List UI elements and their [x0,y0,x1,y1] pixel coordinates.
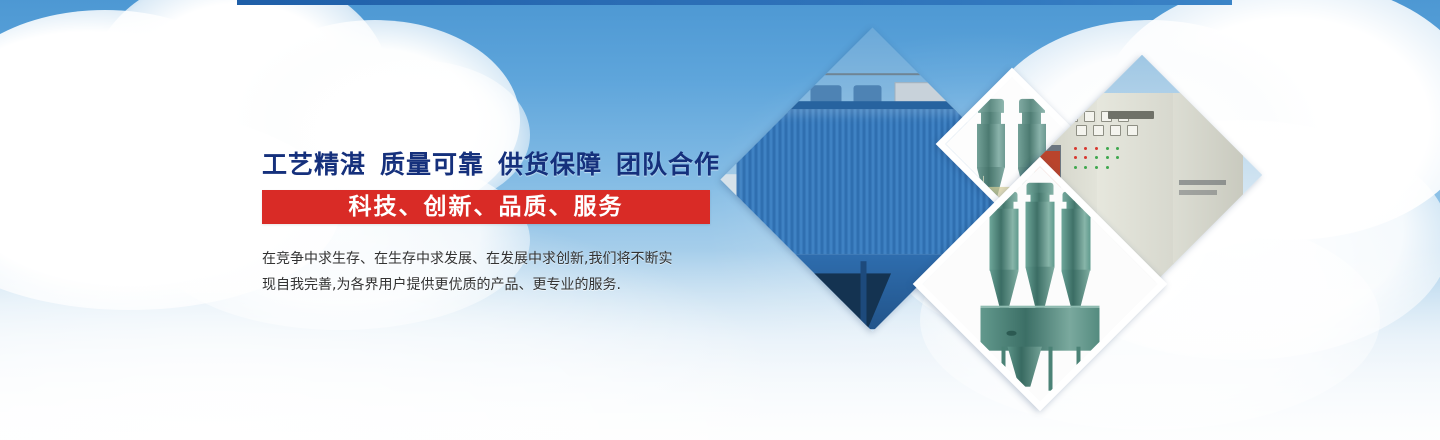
baghouse-railing [761,73,941,75]
banner-copy: 工艺精湛质量可靠供货保障团队合作 科技、创新、品质、服务 在竞争中求生存、在生存… [258,148,738,298]
hero-banner: 工艺精湛质量可靠供货保障团队合作 科技、创新、品质、服务 在竞争中求生存、在生存… [0,0,1440,440]
cyclone-tube-3 [1060,191,1091,309]
description-line-1: 在竞争中求生存、在生存中求发展、在发展中求创新,我们将不断实 [262,246,738,272]
baghouse-rooftop-unit-1 [749,81,794,108]
headline-item-3: 团队合作 [616,150,720,179]
baghouse-pole [786,44,788,81]
cabinet-meter [1067,111,1078,122]
headline-item-0: 工艺精湛 [262,150,366,179]
cyclone-cap [978,99,1004,113]
cabinet-indicator-lamp [1106,147,1109,150]
cabinet-indicator-lamp [1116,147,1119,150]
cyclone-tube-cone [990,269,1019,309]
slogan-bar-text: 科技、创新、品质、服务 [349,196,624,219]
cyclone-cap [1019,99,1045,113]
cabinet-indicator-lamp [1106,166,1109,169]
cyclone-tube-2 [1025,183,1056,309]
headline-item-2: 供货保障 [498,150,602,179]
multi-cyclone-hopper [1007,346,1042,387]
multi-cyclone-leg-2 [1048,346,1052,391]
cabinet-meter [1093,125,1104,136]
cyclone-tube-barrel [1025,202,1054,268]
page-title: 工艺精湛质量可靠供货保障团队合作 [262,148,738,182]
box-port [1007,331,1016,335]
cabinet-meter [1127,125,1138,136]
multi-cyclone-collection-box [981,305,1099,350]
headline-item-1: 质量可靠 [380,150,484,179]
cabinet-indicator-lamp [1095,147,1098,150]
top-accent-rule [237,0,1232,5]
description-line-2: 现自我完善,为各界用户提供更优质的产品、更专业的服务. [262,272,738,298]
cabinet-label-strip [1108,111,1154,119]
cyclone-tube-cone [1061,269,1090,309]
cabinet-text-label-1 [1179,180,1225,185]
cyclone-tube-barrel [1061,209,1090,271]
banner-description: 在竞争中求生存、在生存中求发展、在发展中求创新,我们将不断实 现自我完善,为各界… [262,246,738,298]
cabinet-meter [1110,125,1121,136]
cyclone-tube-cone [1025,267,1054,310]
product-collage [745,42,1235,382]
cabinet-text-label-2 [1179,190,1217,195]
cabinet-indicator-lamp [1074,147,1077,150]
cabinet-meter [1076,125,1087,136]
cabinet-meter [1084,111,1095,122]
baghouse-leg-1 [780,267,786,332]
baghouse-leg-2 [860,261,866,332]
multi-cyclone-assembly [989,191,1091,395]
cyclone-tube-barrel [990,209,1019,271]
slogan-bar: 科技、创新、品质、服务 [262,190,710,224]
cyclone-tube-1 [989,191,1020,309]
cyclone-barrel [977,124,1005,168]
